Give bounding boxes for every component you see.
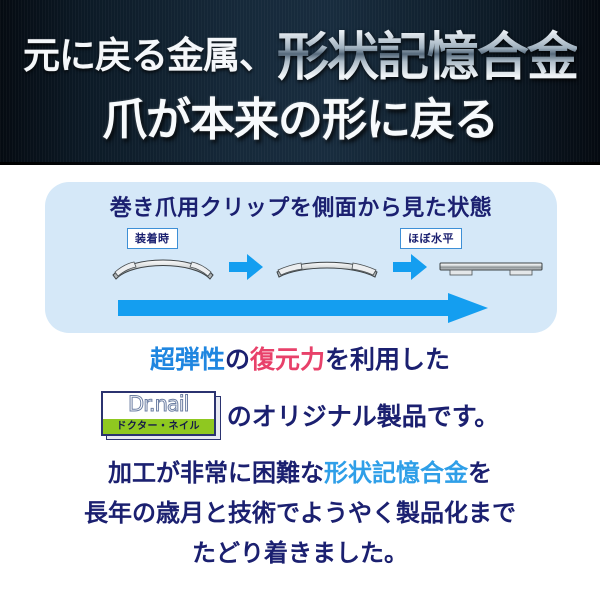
infographic-page: 元に戻る金属、 形状記憶合金 爪が本来の形に戻る 巻き爪用クリップを側面から見た… (0, 0, 600, 600)
hero-headline-sub: 爪が本来の形に戻る (102, 83, 498, 148)
logo-kana-band: ドクター・ネイル (103, 419, 214, 434)
clip-stage-flat (437, 248, 545, 282)
particle-no: の (225, 346, 250, 374)
clip-stage-row: 装着時 ほぼ水平 (45, 228, 557, 284)
desc-1-a: 加工が非常に困難な (108, 460, 324, 487)
clip-stage-attached (109, 248, 217, 282)
brand-logo: Dr.nail ドクター・ネイル (101, 391, 221, 438)
desc-3-a: たどり着きました。 (192, 540, 408, 567)
description-line-3: たどり着きました。 (0, 534, 600, 574)
hero-header: 元に戻る金属、 形状記憶合金 爪が本来の形に戻る (0, 0, 600, 165)
arrow-right-icon (393, 254, 427, 280)
elasticity-term: 超弾性 (150, 346, 225, 374)
clip-illustration-panel: 巻き爪用クリップを側面から見た状態 装着時 ほぼ水平 (45, 182, 557, 333)
description-line-2: 長年の歳月と技術でようやく製品化まで (0, 494, 600, 534)
panel-title: 巻き爪用クリップを側面から見た状態 (45, 190, 557, 222)
brand-logo-row: Dr.nail ドクター・ネイル のオリジナル製品です。 (0, 391, 600, 438)
desc-2-a: 長年の歳月と技術でようやく製品化まで (84, 500, 516, 527)
desc-1-c: を (468, 460, 492, 487)
headline-tail: を利用した (325, 346, 450, 374)
hero-headline-line1: 元に戻る金属、 形状記憶合金 (0, 24, 600, 80)
long-arrow-right-icon (118, 293, 488, 323)
elasticity-headline: 超弾性の復元力を利用した (0, 343, 600, 377)
clip-stage-middle (273, 248, 381, 282)
logo-suffix-text: のオリジナル製品です。 (227, 397, 500, 433)
lower-copy-block: 超弾性の復元力を利用した Dr.nail ドクター・ネイル のオリジナル製品です… (0, 343, 600, 574)
arrow-right-icon (229, 254, 263, 280)
description-line-1: 加工が非常に困難な形状記憶合金を (0, 454, 600, 494)
restoration-term: 復元力 (250, 346, 325, 374)
clip-tag-flat: ほぼ水平 (400, 228, 462, 249)
desc-1-highlight: 形状記憶合金 (324, 460, 468, 487)
logo-kana-text: ドクター・ネイル (103, 419, 214, 434)
logo-wordmark: Dr.nail (103, 392, 214, 417)
hero-headline-plain: 元に戻る金属、 (23, 25, 275, 79)
hero-headline-line2: 爪が本来の形に戻る (0, 86, 600, 144)
logo-box: Dr.nail ドクター・ネイル (101, 391, 216, 436)
description-paragraph: 加工が非常に困難な形状記憶合金を 長年の歳月と技術でようやく製品化まで たどり着… (0, 454, 600, 574)
hero-headline-metal: 形状記憶合金 (277, 15, 577, 90)
clip-tag-attached: 装着時 (127, 228, 178, 249)
